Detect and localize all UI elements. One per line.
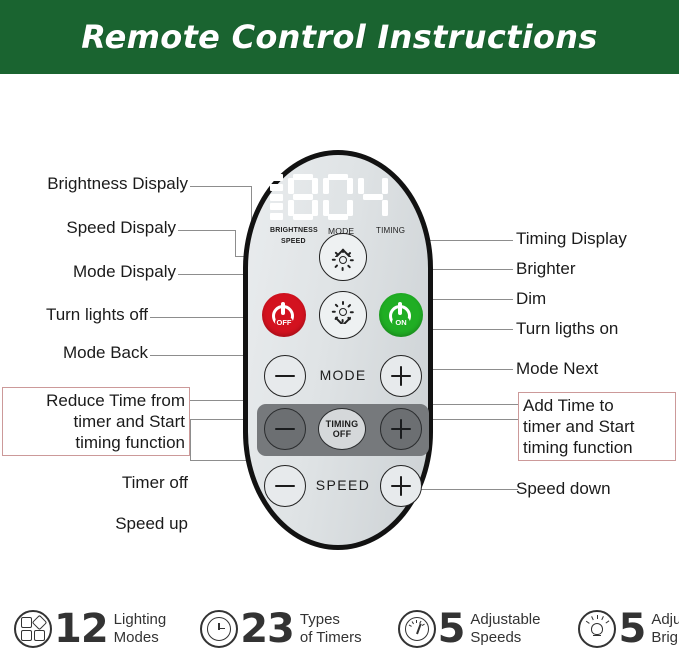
lcd-label-timing: TIMING [376, 226, 405, 235]
power-off-label: OFF [275, 317, 293, 327]
page-title: Remote Control Instructions [81, 18, 597, 56]
callout-mode-back: Mode Back [0, 343, 148, 363]
leader-line [190, 186, 252, 187]
lcd-digit-1 [288, 174, 318, 220]
reduce-time-line1: Reduce Time from [7, 390, 185, 411]
feature-line2: Speeds [470, 629, 540, 647]
power-on-icon: ON [388, 302, 414, 328]
callout-mode-next: Mode Next [516, 359, 598, 379]
feature-text: Types of Timers [300, 611, 362, 647]
feature-text: Adjustable Brightness [651, 611, 679, 647]
feature-adjustable-brightness: 5 Adjustable Brightness [578, 610, 679, 648]
minus-icon [275, 419, 295, 439]
feature-line1: Types [300, 611, 362, 629]
header-banner: Remote Control Instructions [0, 0, 679, 74]
lighting-modes-icon [14, 610, 52, 648]
lcd-label-speed: SPEED [281, 238, 306, 245]
callout-timer-off: Timer off [0, 473, 188, 493]
reduce-time-line2: timer and Start [7, 411, 185, 432]
lcd-display [270, 171, 416, 223]
callout-turn-lights-on: Turn ligths on [516, 319, 618, 339]
leader-line [190, 419, 191, 461]
callout-mode-display: Mode Dispaly [0, 262, 176, 282]
feature-line1: Adjustable [651, 611, 679, 629]
feature-number: 5 [618, 610, 645, 648]
feature-line1: Adjustable [470, 611, 540, 629]
bulb-icon [578, 610, 616, 648]
lcd-digit-2 [323, 174, 353, 220]
timing-off-label-line1: TIMING [326, 419, 359, 429]
leader-line [190, 419, 250, 420]
feature-line2: Modes [114, 629, 167, 647]
leader-line [178, 230, 236, 231]
dim-button[interactable] [319, 291, 367, 339]
add-time-line3: timing function [523, 437, 671, 458]
clock-icon [200, 610, 238, 648]
sun-up-icon [332, 246, 354, 268]
add-time-line1: Add Time to [523, 395, 671, 416]
add-time-line2: timer and Start [523, 416, 671, 437]
brighter-button[interactable] [319, 233, 367, 281]
callout-timing-display: Timing Display [516, 229, 627, 249]
speed-plus-button[interactable] [380, 465, 422, 507]
timer-minus-button[interactable] [264, 408, 306, 450]
leader-line [235, 230, 236, 257]
feature-text: Adjustable Speeds [470, 611, 540, 647]
callout-brighter: Brighter [516, 259, 576, 279]
remote-control-body: BRIGHTNESS SPEED MODE TIMING [243, 150, 433, 550]
mode-plus-button[interactable] [380, 355, 422, 397]
feature-lighting-modes: 12 Lighting Modes [14, 610, 166, 648]
speedometer-icon [398, 610, 436, 648]
callout-reduce-time-box: Reduce Time from timer and Start timing … [2, 387, 190, 456]
sun-down-icon [332, 304, 354, 326]
power-on-button[interactable]: ON [379, 293, 423, 337]
callout-brightness-display: Brightness Dispaly [0, 174, 188, 194]
timing-off-button[interactable]: TIMING OFF [318, 408, 366, 450]
feature-number: 23 [240, 610, 294, 648]
timer-plus-button[interactable] [380, 408, 422, 450]
feature-line1: Lighting [114, 611, 167, 629]
callout-turn-lights-off: Turn lights off [0, 305, 148, 325]
feature-number: 5 [438, 610, 465, 648]
power-on-label: ON [392, 317, 410, 327]
callout-speed-down: Speed down [516, 479, 611, 499]
power-off-button[interactable]: OFF [262, 293, 306, 337]
feature-timer-types: 23 Types of Timers [200, 610, 361, 648]
lcd-label-brightness: BRIGHTNESS [270, 227, 318, 234]
feature-line2: Brightness [651, 629, 679, 647]
brightness-bar-indicator [270, 174, 283, 220]
plus-icon [391, 366, 411, 386]
callout-dim: Dim [516, 289, 546, 309]
timing-off-label-line2: OFF [333, 429, 352, 439]
reduce-time-line3: timing function [7, 432, 185, 453]
plus-icon [391, 419, 411, 439]
callout-speed-up: Speed up [0, 514, 188, 534]
feature-line2: of Timers [300, 629, 362, 647]
lcd-digit-3 [358, 174, 388, 220]
feature-strip: 12 Lighting Modes 23 Types of Timers 5 A… [0, 600, 679, 657]
feature-text: Lighting Modes [114, 611, 167, 647]
feature-number: 12 [54, 610, 108, 648]
callout-add-time-box: Add Time to timer and Start timing funct… [518, 392, 676, 461]
callout-speed-display: Speed Dispaly [0, 218, 176, 238]
plus-icon [391, 476, 411, 496]
feature-adjustable-speeds: 5 Adjustable Speeds [398, 610, 541, 648]
power-off-icon: OFF [271, 302, 297, 328]
instruction-diagram: BRIGHTNESS SPEED MODE TIMING [0, 74, 679, 594]
